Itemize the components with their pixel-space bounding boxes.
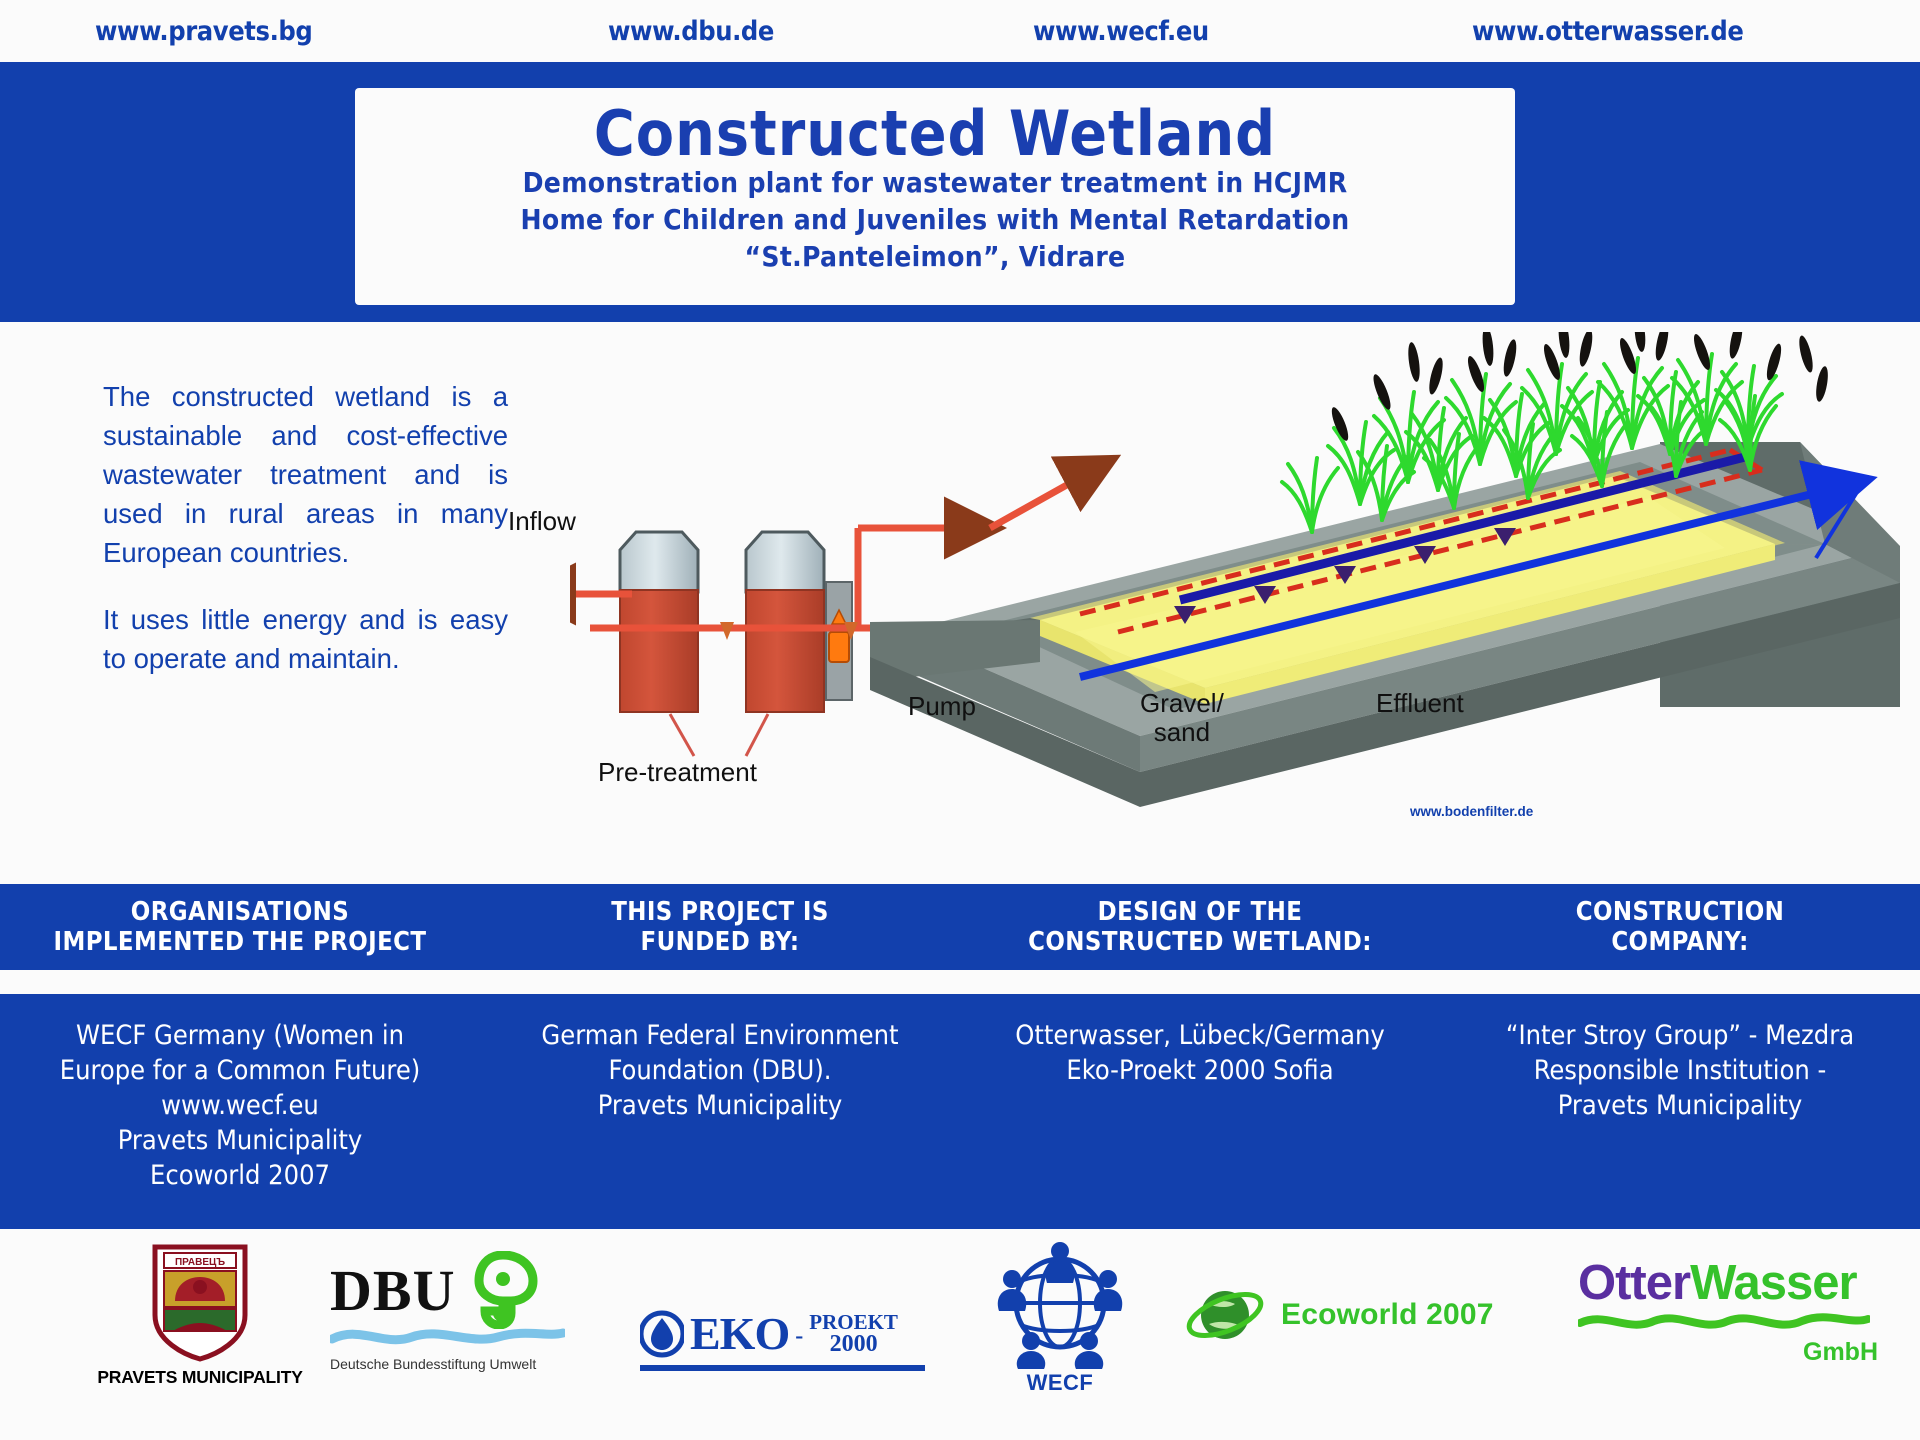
partner-body-design: Otterwasser, Lübeck/Germany Eko-Proekt 2… [960,994,1440,1229]
logo-strip: ПРАВЕЦЪ PRAVETS MUNICIPALITY DBU [0,1229,1920,1440]
label-gravel-sand: Gravel/ sand [1140,689,1224,747]
logo-eko-dash: - [795,1323,803,1360]
partner-body-org-line1: WECF Germany (Women in [76,1018,404,1053]
subtitle-line-1: Demonstration plant for wastewater treat… [523,165,1348,202]
url-dbu[interactable]: www.dbu.de [608,16,774,47]
label-inflow: Inflow [508,507,576,536]
url-wecf[interactable]: www.wecf.eu [1033,16,1209,47]
logo-otterwasser-word1: Otter [1578,1256,1690,1310]
constructed-wetland-diagram: Inflow Pre-treatment Pump Gravel/ sand E… [570,332,1900,877]
partner-body-construction-line2: Responsible Institution - [1534,1053,1827,1088]
label-pretreatment: Pre-treatment [598,758,757,787]
partner-body-funded-line1: German Federal Environment [541,1018,898,1053]
logo-ecoworld-word: Ecoworld 2007 [1281,1298,1494,1332]
partner-header-design-line1: DESIGN OF THE [1098,897,1303,927]
logo-dbu-word: DBU [330,1257,455,1324]
logo-ecoworld[interactable]: Ecoworld 2007 [1185,1284,1494,1346]
intro-paragraph-2: It uses little energy and is easy to ope… [103,600,508,678]
intro-paragraph-1: The constructed wetland is a sustainable… [103,377,508,572]
logo-otterwasser-word: OtterWasser [1578,1255,1878,1311]
label-pump: Pump [908,692,976,721]
partner-body-construction-line3: Pravets Municipality [1558,1088,1803,1123]
logo-eko-word: EKO [690,1307,789,1360]
partner-header-funded: THIS PROJECT IS FUNDED BY: [480,884,960,970]
logo-eko-sub1: PROEKT [809,1313,898,1333]
partner-header-organisations-line1: ORGANISATIONS [131,897,349,927]
dbu-wave-icon [330,1323,565,1349]
logo-pravets-caption: PRAVETS MUNICIPALITY [95,1367,305,1388]
subtitle-line-3: “St.Panteleimon”, Vidrare [745,239,1126,276]
logo-otterwasser-word2: Wasser [1690,1256,1857,1310]
eko-underline-icon [640,1363,925,1373]
logo-wecf[interactable]: WECF [980,1241,1140,1396]
partner-header-design: DESIGN OF THE CONSTRUCTED WETLAND: [960,884,1440,970]
logo-dbu[interactable]: DBU Deutsche Bundesstiftung Umwelt [330,1251,595,1372]
otterwasser-wave-icon [1578,1309,1870,1335]
logo-dbu-caption: Deutsche Bundesstiftung Umwelt [330,1356,595,1372]
dbu-leaf-icon [463,1251,543,1329]
logo-otterwasser-caption: GmbH [1578,1338,1878,1367]
partner-header-construction-line1: CONSTRUCTION [1576,897,1785,927]
partner-header-funded-line1: THIS PROJECT IS [611,897,829,927]
partner-header-funded-line2: FUNDED BY: [641,927,800,957]
wecf-people-globe-icon [985,1241,1135,1371]
top-url-bar: www.pravets.bg www.dbu.de www.wecf.eu ww… [0,0,1920,62]
partner-body-funded-line3: Pravets Municipality [598,1088,843,1123]
intro-text: The constructed wetland is a sustainable… [103,377,508,678]
svg-text:ПРАВЕЦЪ: ПРАВЕЦЪ [175,1257,225,1268]
logo-eko-proekt[interactable]: EKO - PROEKT 2000 [640,1307,925,1378]
partner-header-organisations-line2: IMPLEMENTED THE PROJECT [54,927,427,957]
partner-header-construction-line2: COMPANY: [1611,927,1748,957]
eko-droplet-icon [640,1308,684,1360]
partner-body-band: WECF Germany (Women in Europe for a Comm… [0,994,1920,1229]
partner-body-design-line2: Eko-Proekt 2000 Sofia [1066,1053,1333,1088]
url-pravets[interactable]: www.pravets.bg [95,16,312,47]
pretreatment-tanks [620,532,852,712]
partner-body-org-line5: Ecoworld 2007 [150,1158,330,1193]
logo-wecf-caption: WECF [980,1370,1140,1396]
label-effluent: Effluent [1376,689,1464,718]
partner-body-org-line4: Pravets Municipality [118,1123,363,1158]
partner-header-organisations: ORGANISATIONS IMPLEMENTED THE PROJECT [0,884,480,970]
ecoworld-globe-icon [1185,1284,1269,1346]
band-divider [0,970,1920,994]
leader-lines [670,714,768,756]
bodenfilter-watermark: www.bodenfilter.de [1410,804,1533,819]
partner-body-funded: German Federal Environment Foundation (D… [480,994,960,1229]
partner-body-org-line2: Europe for a Common Future) [60,1053,421,1088]
title-card: Constructed Wetland Demonstration plant … [355,88,1515,305]
partner-body-construction-line1: “Inter Stroy Group” - Mezdra [1506,1018,1854,1053]
main-content: The constructed wetland is a sustainable… [0,322,1920,884]
partner-body-org-line3[interactable]: www.wecf.eu [161,1088,319,1123]
partner-body-design-line1: Otterwasser, Lübeck/Germany [1015,1018,1385,1053]
url-otterwasser[interactable]: www.otterwasser.de [1472,16,1743,47]
logo-otterwasser[interactable]: OtterWasser GmbH [1578,1255,1878,1367]
partner-body-funded-line2: Foundation (DBU). [608,1053,831,1088]
partner-header-design-line2: CONSTRUCTED WETLAND: [1028,927,1372,957]
partner-body-organisations: WECF Germany (Women in Europe for a Comm… [0,994,480,1229]
page-title: Constructed Wetland [594,102,1276,165]
partner-body-construction: “Inter Stroy Group” - Mezdra Responsible… [1440,994,1920,1229]
logo-pravets-municipality[interactable]: ПРАВЕЦЪ PRAVETS MUNICIPALITY [95,1243,305,1388]
partner-header-construction: CONSTRUCTION COMPANY: [1440,884,1920,970]
logo-eko-sub2: 2000 [830,1333,878,1356]
poster-root: www.pravets.bg www.dbu.de www.wecf.eu ww… [0,0,1920,1440]
subtitle-line-2: Home for Children and Juveniles with Men… [520,202,1349,239]
partner-header-band: ORGANISATIONS IMPLEMENTED THE PROJECT TH… [0,884,1920,970]
